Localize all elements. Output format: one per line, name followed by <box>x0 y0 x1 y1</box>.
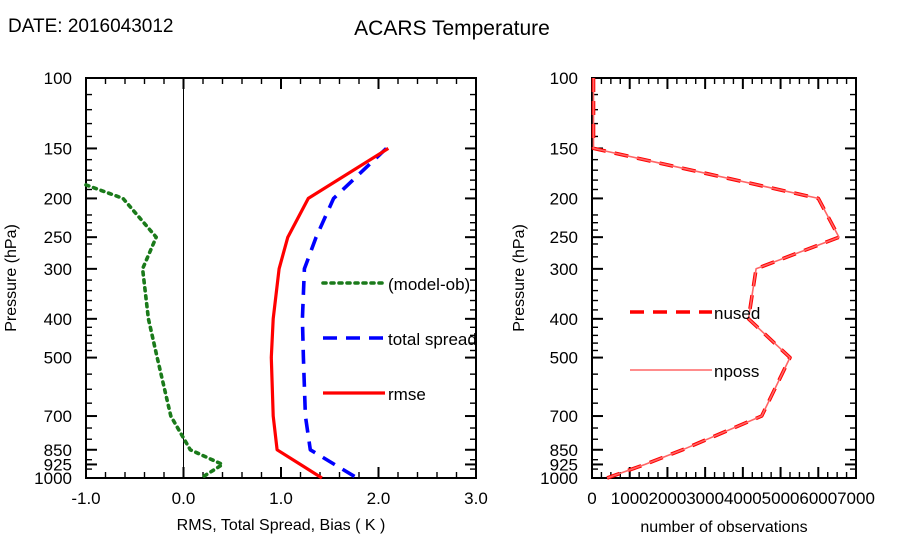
left-ytick-label: 700 <box>44 407 72 426</box>
right-ytick-label: 300 <box>550 260 578 279</box>
right-xtick-label: 5000 <box>762 489 800 508</box>
left-ytick-label: 100 <box>44 69 72 88</box>
date-label: DATE: 2016043012 <box>8 16 174 37</box>
left-legend-label: (model-ob) <box>388 275 470 294</box>
right-ytick-label: 100 <box>550 69 578 88</box>
right-legend-label: nposs <box>714 362 759 381</box>
figure-title: ACARS Temperature <box>354 17 550 40</box>
left-legend-label: total spread <box>388 330 477 349</box>
right-xtick-label: 4000 <box>724 489 762 508</box>
right-xtick-label: 1000 <box>611 489 649 508</box>
right-xtick-label: 2000 <box>649 489 687 508</box>
right-legend-label: nused <box>714 304 760 323</box>
right-xaxis-label: number of observations <box>640 519 807 536</box>
right-ytick-label: 1000 <box>540 469 578 488</box>
left-ytick-label: 250 <box>44 228 72 247</box>
left-legend-label: rmse <box>388 385 426 404</box>
left-ytick-label: 500 <box>44 349 72 368</box>
right-ytick-label: 150 <box>550 139 578 158</box>
right-ytick-label: 700 <box>550 407 578 426</box>
right-ytick-label: 200 <box>550 189 578 208</box>
left-ytick-label: 200 <box>44 189 72 208</box>
left-ytick-label: 150 <box>44 139 72 158</box>
left-ytick-label: 1000 <box>34 469 72 488</box>
left-ytick-label: 400 <box>44 310 72 329</box>
acars-temperature-figure: DATE: 2016043012 ACARS Temperature 10015… <box>0 0 900 560</box>
left-ytick-label: 300 <box>44 260 72 279</box>
left-xtick-label: 3.0 <box>464 489 488 508</box>
left-xtick-label: 2.0 <box>367 489 391 508</box>
right-xtick-label: 3000 <box>686 489 724 508</box>
right-ytick-label: 500 <box>550 349 578 368</box>
left-yaxis-label: Pressure (hPa) <box>3 224 20 332</box>
left-xtick-label: -1.0 <box>71 489 100 508</box>
right-xtick-label: 7000 <box>837 489 875 508</box>
right-ytick-label: 400 <box>550 310 578 329</box>
left-xtick-label: 0.0 <box>172 489 196 508</box>
plot-canvas: DATE: 2016043012 ACARS Temperature 10015… <box>0 0 900 560</box>
right-xtick-label: 0 <box>587 489 596 508</box>
right-ytick-label: 250 <box>550 228 578 247</box>
right-yaxis-label: Pressure (hPa) <box>511 224 528 332</box>
left-xaxis-label: RMS, Total Spread, Bias ( K ) <box>177 517 386 534</box>
left-xtick-label: 1.0 <box>269 489 293 508</box>
right-xtick-label: 6000 <box>799 489 837 508</box>
